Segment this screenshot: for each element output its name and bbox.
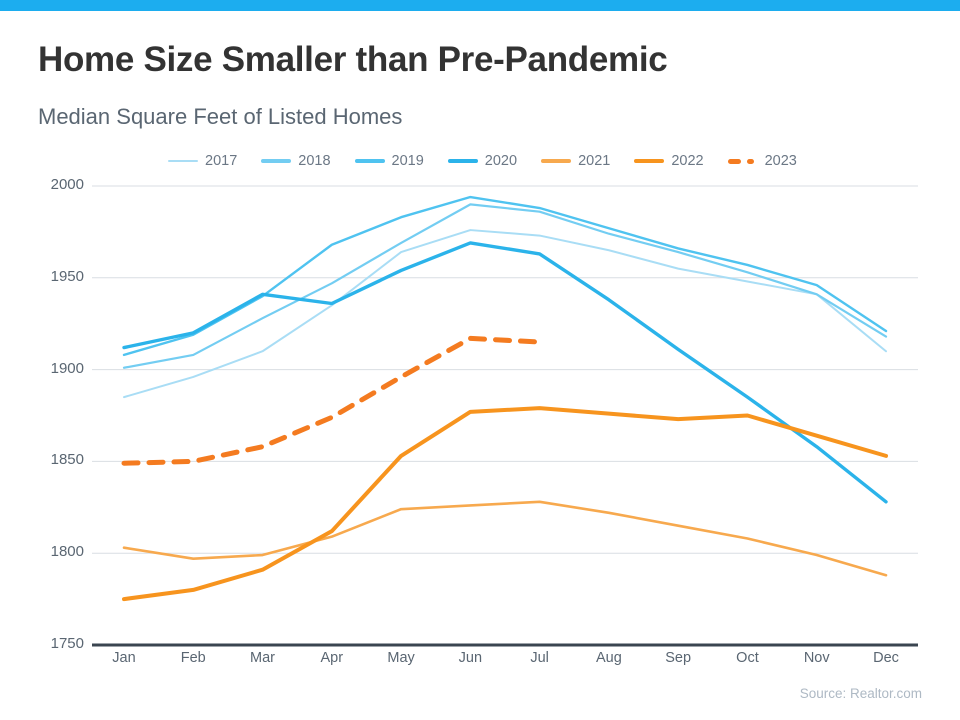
- x-axis-tick-Jul: Jul: [505, 650, 575, 666]
- chart-page: Home Size Smaller than Pre-Pandemic Medi…: [0, 0, 960, 720]
- x-axis-tick-Sep: Sep: [643, 650, 713, 666]
- plot-area: 175018001850190019502000JanFebMarAprMayJ…: [0, 0, 960, 720]
- x-axis-tick-Apr: Apr: [297, 650, 367, 666]
- y-axis-tick-1850: 1850: [28, 451, 84, 468]
- x-axis-tick-Aug: Aug: [574, 650, 644, 666]
- x-axis-tick-Feb: Feb: [158, 650, 228, 666]
- x-axis-tick-Mar: Mar: [228, 650, 298, 666]
- x-axis-tick-Nov: Nov: [782, 650, 852, 666]
- x-axis-tick-Dec: Dec: [851, 650, 921, 666]
- x-axis-tick-Jun: Jun: [435, 650, 505, 666]
- line-chart-svg: [0, 0, 960, 720]
- x-axis-tick-May: May: [366, 650, 436, 666]
- y-axis-tick-1750: 1750: [28, 635, 84, 652]
- series-line-2017: [124, 230, 886, 397]
- y-axis-tick-1800: 1800: [28, 543, 84, 560]
- y-axis-tick-2000: 2000: [28, 176, 84, 193]
- y-axis-tick-1900: 1900: [28, 360, 84, 377]
- series-line-2021: [124, 502, 886, 575]
- series-line-2020: [124, 243, 886, 502]
- source-caption: Source: Realtor.com: [800, 686, 922, 701]
- y-axis-tick-1950: 1950: [28, 268, 84, 285]
- x-axis-tick-Jan: Jan: [89, 650, 159, 666]
- x-axis-tick-Oct: Oct: [712, 650, 782, 666]
